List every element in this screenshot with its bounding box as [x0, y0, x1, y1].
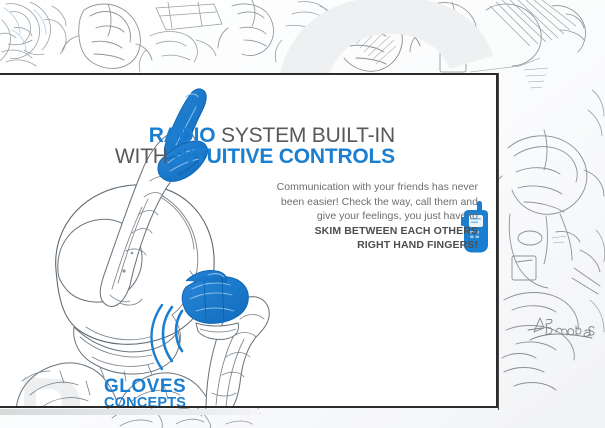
panel-right-rule — [498, 73, 499, 410]
headline-line-2: WITH INTUITIVE CONTROLS — [105, 146, 395, 167]
body-emphasis-2: RIGHT HAND FINGERS! — [155, 238, 478, 253]
body-line-3: give your feelings, you just have to — [155, 209, 478, 224]
headline-system-built-in: SYSTEM BUILT-IN — [221, 124, 395, 147]
headline: RADIO SYSTEM BUILT-IN WITH INTUITIVE CON… — [105, 125, 395, 167]
main-content-panel: RADIO SYSTEM BUILT-IN WITH INTUITIVE CON… — [0, 73, 498, 408]
headline-intuitive-controls: INTUITIVE CONTROLS — [173, 145, 395, 168]
poster-stage: G — [0, 0, 605, 428]
ear-glove — [182, 270, 248, 339]
brand-logo: GLOVES CONCEPTS — [104, 378, 186, 408]
logo-line-gloves: GLOVES — [104, 378, 186, 396]
bottom-gray-band — [0, 409, 260, 415]
body-emphasis-1: SKIM BETWEEN EACH OTHERS — [155, 224, 478, 239]
headline-line-1: RADIO SYSTEM BUILT-IN — [105, 125, 395, 146]
body-copy: Communication with your friends has neve… — [155, 180, 478, 253]
body-line-1: Communication with your friends has neve… — [155, 180, 478, 195]
body-line-2: been easier! Check the way, call them an… — [155, 195, 478, 210]
headline-radio: RADIO — [149, 124, 216, 147]
logo-line-concepts: CONCEPTS — [104, 396, 186, 408]
headline-with: WITH — [115, 145, 168, 168]
